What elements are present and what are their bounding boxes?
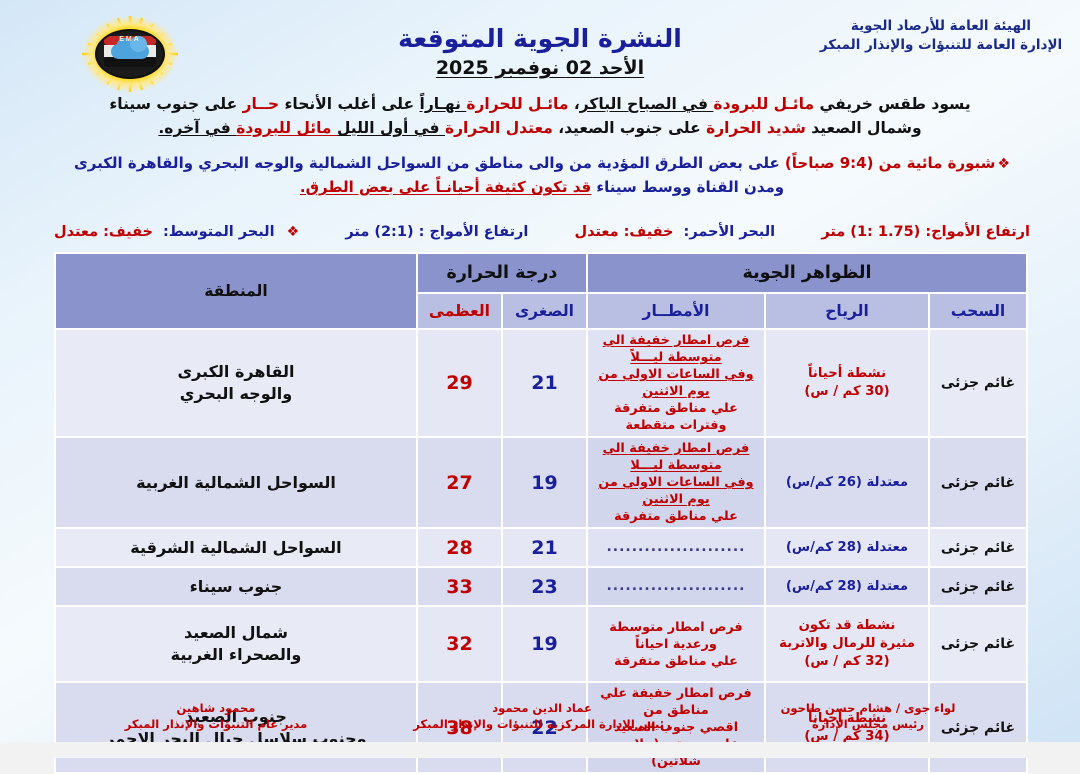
header-phenomena: الظواهر الجوية bbox=[587, 253, 1027, 293]
cell-min-temp: 19 bbox=[502, 437, 587, 528]
header-cloud: السحب bbox=[929, 293, 1027, 329]
fog-advisory-part-3: ومدن القناة ووسط سيناء bbox=[591, 178, 784, 196]
table-row: غائم جزئى معتدلة (28 كم/س) .............… bbox=[55, 567, 1027, 606]
cell-cloud: غائم جزئى bbox=[929, 437, 1027, 528]
rain-line-3: وعلي مدينتي (حلايب – شلاتين) bbox=[591, 736, 761, 770]
wind-line-1: نشطة قد تكون bbox=[769, 617, 925, 635]
cell-max-temp: 28 bbox=[417, 528, 502, 567]
red-sea-waves-group: ارتفاع الأمواج: (1.75 :1) متر bbox=[821, 222, 1030, 242]
forecast-table: الظواهر الجوية درجة الحرارة المنطقة السح… bbox=[54, 252, 1028, 774]
org-line-1: الهيئة العامة للأرصاد الجوية bbox=[816, 17, 1066, 36]
signature-right-name: محمود شاهين bbox=[56, 700, 376, 716]
fog-advisory-line-2: ومدن القناة ووسط سيناء قد تكون كثيفة أحي… bbox=[54, 176, 1030, 199]
cell-max-temp: 33 bbox=[417, 567, 502, 606]
red-sea-state: خفيف: معتدل bbox=[575, 222, 674, 242]
red-sea-group: البحر الأحمر: خفيف: معتدل bbox=[575, 222, 776, 242]
rain-line-1: فرص امطار متوسطة ورعدية احياناً bbox=[591, 619, 761, 653]
table-header-group-row: الظواهر الجوية درجة الحرارة المنطقة bbox=[55, 253, 1027, 293]
fog-advisory-part-1: شبورة مائية من (9:4 صباحاً) bbox=[785, 154, 996, 172]
cell-region: القاهرة الكبرى والوجه البحري bbox=[55, 329, 417, 437]
table-row: غائم جزئى معتدلة (26 كم/س) فرص امطار خفي… bbox=[55, 437, 1027, 528]
header-min-temp: الصغرى bbox=[502, 293, 587, 329]
fog-advisory-part-2: على بعض الطرق المؤدية من والى مناطق من ا… bbox=[74, 154, 785, 172]
rain-line-1: فرص امطار خفيفة الي متوسطة ليـــلا bbox=[591, 440, 761, 474]
cell-rain: فرص امطار خفيفة الي متوسطة ليـــلاً وفي … bbox=[587, 329, 765, 437]
region-line-1: السواحل الشمالية الشرقية bbox=[59, 537, 413, 559]
cell-min-temp: 21 bbox=[502, 528, 587, 567]
med-sea-label: البحر المتوسط: bbox=[163, 222, 275, 242]
wind-line-3: (32 كم / س) bbox=[769, 653, 925, 671]
summary-l2-b: شديد الحرارة bbox=[706, 119, 806, 137]
table-row: غائم جزئى معتدلة (28 كم/س) .............… bbox=[55, 528, 1027, 567]
cell-wind: نشطة قد تكون مثيرة للرمال والاتربة (32 ك… bbox=[765, 606, 929, 682]
rain-line-1: فرص امطار خفيفة الي متوسطة ليـــلاً bbox=[591, 332, 761, 366]
document-footer: لواء جوى / هشام حسن طاحون رئيس مجلس الإد… bbox=[56, 700, 1028, 742]
cell-cloud: غائم جزئى bbox=[929, 567, 1027, 606]
cell-wind: نشطة أحياناً (30 كم / س) bbox=[765, 329, 929, 437]
cell-wind: معتدلة (26 كم/س) bbox=[765, 437, 929, 528]
wind-line-1: معتدلة (28 كم/س) bbox=[769, 578, 925, 596]
cell-min-temp: 19 bbox=[502, 606, 587, 682]
cell-rain: فرص امطار خفيفة الي متوسطة ليـــلا وفي ا… bbox=[587, 437, 765, 528]
rain-line-3: علي مناطق متفرقة bbox=[591, 508, 761, 525]
header-wind: الرياح bbox=[765, 293, 929, 329]
sea-conditions: ارتفاع الأمواج: (1.75 :1) متر البحر الأح… bbox=[54, 222, 1030, 242]
organization-name: الهيئة العامة للأرصاد الجوية الإدارة الع… bbox=[816, 17, 1066, 55]
summary-l1-b: مائـل للبرودة bbox=[713, 95, 814, 113]
signature-left: لواء جوى / هشام حسن طاحون رئيس مجلس الإد… bbox=[708, 700, 1028, 732]
summary-l1-h: حــار bbox=[243, 95, 280, 113]
region-line-1: شمال الصعيد bbox=[59, 622, 413, 644]
region-line-1: القاهرة الكبرى bbox=[59, 361, 413, 383]
summary-l2-f: مائل للبرودة bbox=[236, 119, 337, 137]
signature-left-role: رئيس مجلس الإدارة bbox=[708, 716, 1028, 732]
red-sea-label: البحر الأحمر: bbox=[684, 222, 776, 242]
signature-right-role: مدير عام التنبؤات والإنذار المبكر bbox=[56, 716, 376, 732]
cell-wind: معتدلة (28 كم/س) bbox=[765, 528, 929, 567]
summary-l2-a: وشمال الصعيد bbox=[806, 119, 922, 137]
cell-rain: ...................... bbox=[587, 528, 765, 567]
fog-advisory-part-4: قد تكون كثيفة أحيانـاً على بعض الطرق. bbox=[300, 178, 591, 196]
rain-line-1: ...................... bbox=[591, 578, 761, 595]
cell-region: السواحل الشمالية الغربية bbox=[55, 437, 417, 528]
table-row: غائم جزئى نشطة قد تكون مثيرة للرمال والا… bbox=[55, 606, 1027, 682]
signature-center: عماد الدين محمود رئيس الإدارة المركزية ل… bbox=[382, 700, 702, 732]
header-rain: الأمطــار bbox=[587, 293, 765, 329]
cell-cloud: غائم جزئى bbox=[929, 528, 1027, 567]
region-line-2: والصحراء الغربية bbox=[59, 644, 413, 666]
cell-region: جنوب سيناء bbox=[55, 567, 417, 606]
summary-line-1: يسود طقس خريفي مائـل للبرودة في الصباح ا… bbox=[96, 92, 984, 116]
fog-advisory: ❖شبورة مائية من (9:4 صباحاً) على بعض الط… bbox=[54, 152, 1030, 176]
summary-l1-i: على جنوب سيناء bbox=[109, 95, 242, 113]
header-max-temp: العظمى bbox=[417, 293, 502, 329]
wind-line-2: مثيرة للرمال والاتربة bbox=[769, 635, 925, 653]
region-line-1: جنوب سيناء bbox=[59, 576, 413, 598]
med-sea-waves-group: ارتفاع الأمواج : (2:1) متر bbox=[345, 222, 528, 242]
region-line-1: السواحل الشمالية الغربية bbox=[59, 472, 413, 494]
cell-min-temp: 21 bbox=[502, 329, 587, 437]
summary-l2-d: معتدل الحرارة bbox=[445, 119, 553, 137]
med-sea-state: خفيف: معتدل bbox=[54, 222, 153, 242]
med-sea-group: ❖ البحر المتوسط: خفيف: معتدل bbox=[54, 222, 299, 242]
sea-bullet-marker-icon: ❖ bbox=[287, 222, 300, 242]
summary-l1-e: مائـل للحرارة bbox=[466, 95, 568, 113]
org-line-2: الإدارة العامة للتنبؤات والإنذار المبكر bbox=[816, 36, 1066, 55]
rain-line-3: علي مناطق متفرقة وفترات متقطعة bbox=[591, 400, 761, 434]
red-sea-wave-height: ارتفاع الأمواج: (1.75 :1) متر bbox=[821, 222, 1030, 242]
summary-l1-a: يسود طقس خريفي bbox=[814, 95, 971, 113]
summary-line-2: وشمال الصعيد شديد الحرارة على جنوب الصعي… bbox=[96, 116, 984, 140]
signature-center-role: رئيس الإدارة المركزية للتنبؤات والإنذار … bbox=[382, 716, 702, 732]
header-temperature: درجة الحرارة bbox=[417, 253, 587, 293]
advisory-bullets: ❖شبورة مائية من (9:4 صباحاً) على بعض الط… bbox=[54, 152, 1030, 199]
region-line-2: والوجه البحري bbox=[59, 383, 413, 405]
summary-l2-g: في آخره. bbox=[158, 119, 236, 137]
wind-line-1: معتدلة (26 كم/س) bbox=[769, 474, 925, 492]
rain-line-2: وفي الساعات الاولي من يوم الاثنين bbox=[591, 366, 761, 400]
forecast-date: الأحد 02 نوفمبر 2025 bbox=[0, 55, 1080, 81]
rain-line-1: ...................... bbox=[591, 539, 761, 556]
cell-rain: ...................... bbox=[587, 567, 765, 606]
cell-max-temp: 32 bbox=[417, 606, 502, 682]
document-header: EMA النشرة الجوية المتوقعة الأحد 02 نوفم… bbox=[0, 0, 1080, 86]
cell-max-temp: 27 bbox=[417, 437, 502, 528]
wind-line-1: معتدلة (28 كم/س) bbox=[769, 539, 925, 557]
med-sea-wave-height: ارتفاع الأمواج : (2:1) متر bbox=[345, 222, 528, 242]
signature-right: محمود شاهين مدير عام التنبؤات والإنذار ا… bbox=[56, 700, 376, 732]
cell-region: السواحل الشمالية الشرقية bbox=[55, 528, 417, 567]
cell-cloud: غائم جزئى bbox=[929, 329, 1027, 437]
summary-l2-e: في أول الليل bbox=[337, 119, 445, 137]
cell-rain: فرص امطار متوسطة ورعدية احياناً علي مناط… bbox=[587, 606, 765, 682]
forecast-table-wrapper: الظواهر الجوية درجة الحرارة المنطقة السح… bbox=[56, 252, 1028, 774]
summary-l1-g: على أغلب الأنحاء bbox=[279, 95, 419, 113]
cell-max-temp: 29 bbox=[417, 329, 502, 437]
wind-line-1: نشطة أحياناً bbox=[769, 365, 925, 383]
wind-line-2: (30 كم / س) bbox=[769, 383, 925, 401]
cell-cloud: غائم جزئى bbox=[929, 606, 1027, 682]
forecast-document: EMA النشرة الجوية المتوقعة الأحد 02 نوفم… bbox=[0, 0, 1080, 758]
rain-line-2: وفي الساعات الاولي من يوم الاثنين bbox=[591, 474, 761, 508]
summary-l2-c: على جنوب الصعيد، bbox=[553, 119, 706, 137]
signature-center-name: عماد الدين محمود bbox=[382, 700, 702, 716]
summary-l1-d: ، bbox=[568, 95, 579, 113]
cell-region: شمال الصعيد والصحراء الغربية bbox=[55, 606, 417, 682]
cell-min-temp: 23 bbox=[502, 567, 587, 606]
header-region: المنطقة bbox=[55, 253, 417, 329]
summary-l1-c: في الصباح الباكر bbox=[580, 95, 714, 113]
signature-left-name: لواء جوى / هشام حسن طاحون bbox=[708, 700, 1028, 716]
weather-summary: يسود طقس خريفي مائـل للبرودة في الصباح ا… bbox=[96, 92, 984, 140]
rain-line-2: علي مناطق متفرقة bbox=[591, 653, 761, 670]
table-row: غائم جزئى نشطة أحياناً (30 كم / س) فرص ا… bbox=[55, 329, 1027, 437]
summary-l1-f: نهـاراً bbox=[420, 95, 467, 113]
bullet-marker-icon: ❖ bbox=[997, 156, 1010, 172]
cell-wind: معتدلة (28 كم/س) bbox=[765, 567, 929, 606]
